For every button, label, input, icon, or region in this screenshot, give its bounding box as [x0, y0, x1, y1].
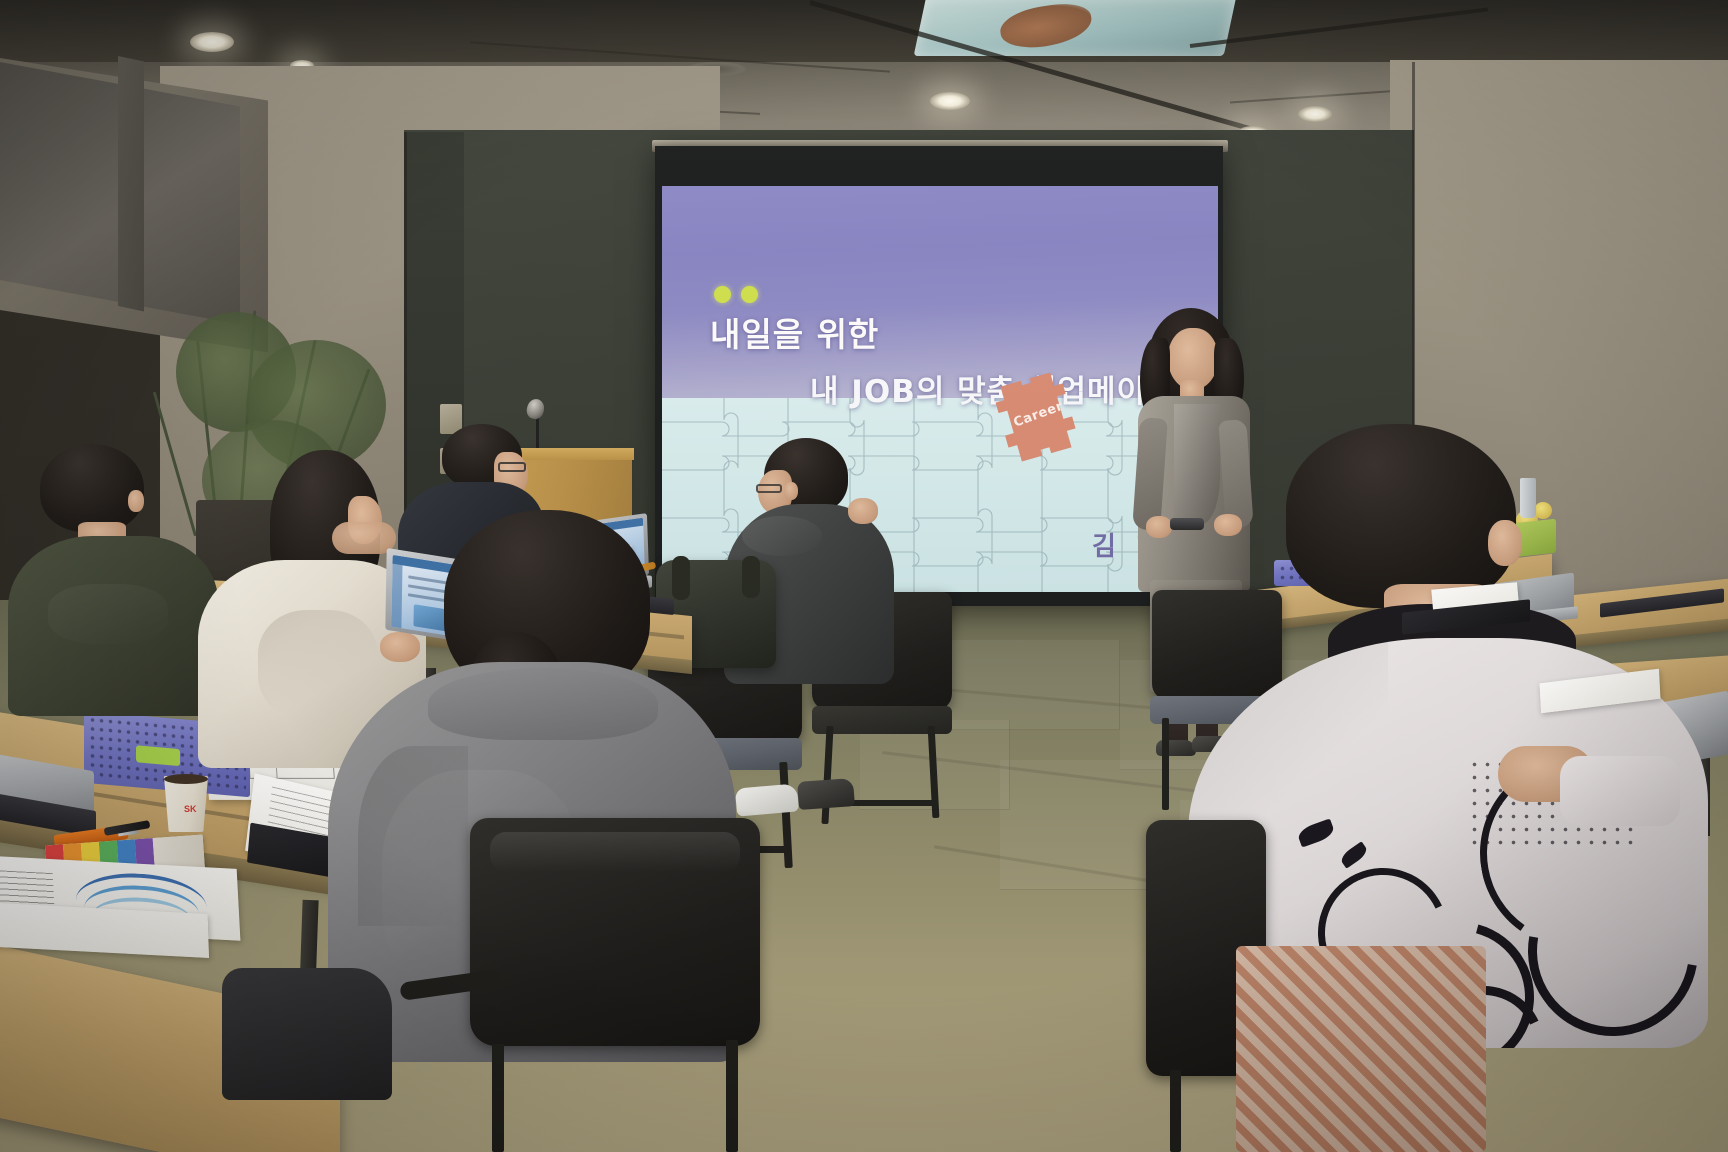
attendee-glasses-icon — [498, 462, 526, 472]
recessed-downlight — [1298, 106, 1332, 122]
attendee-sleeve — [1560, 756, 1680, 826]
jacket-graphic-accent — [1296, 818, 1336, 847]
cup-brand-text: SK — [184, 804, 197, 814]
attendee-ear — [1488, 520, 1522, 566]
attendee-left-olive-figure — [8, 444, 228, 744]
chair-leg — [1170, 1070, 1181, 1152]
plaid-blanket[interactable] — [1236, 946, 1486, 1152]
paper-cup[interactable]: SK — [162, 776, 210, 832]
jacket-shoulder-shadow — [1188, 638, 1388, 818]
chair-leg — [492, 1044, 504, 1152]
carpet-tile — [940, 640, 1120, 730]
attendee-hair — [1286, 424, 1516, 608]
attendee-shoe — [797, 778, 855, 810]
slide-title-line-1: 내일을 위한 — [710, 308, 879, 356]
attendee-hair — [40, 444, 144, 532]
slide-bullet-dots — [714, 286, 758, 303]
backpack-strap — [742, 556, 760, 598]
attendee-shoe — [735, 783, 799, 816]
recessed-downlight — [190, 32, 234, 52]
attendee-hand — [848, 498, 878, 524]
attendee-leg-dark — [222, 968, 392, 1100]
recessed-downlight — [930, 92, 970, 110]
attendee-ear — [128, 490, 144, 512]
hoodie-shoulder-seam — [358, 746, 468, 926]
slide-dot-icon — [714, 286, 731, 303]
hoodie-collar — [428, 668, 658, 740]
presenter-left-hand — [1146, 516, 1172, 538]
chair-back-highlight — [490, 832, 740, 872]
classroom-photo-scene: 내일을 위한 내 JOB의 맞춤 취업메이킹 Career 김 현 — [0, 0, 1728, 1152]
wall-pillar — [118, 56, 144, 312]
attendee-glasses-icon — [756, 484, 782, 493]
jacket-fold — [48, 584, 168, 644]
attendee-shoulder-highlight — [742, 516, 822, 556]
chair-leg — [726, 1040, 738, 1152]
slide-dot-icon — [741, 286, 758, 303]
attendee-ear — [784, 482, 798, 500]
jacket-graphic-accent — [1339, 841, 1370, 869]
chair-leg — [1162, 718, 1169, 810]
